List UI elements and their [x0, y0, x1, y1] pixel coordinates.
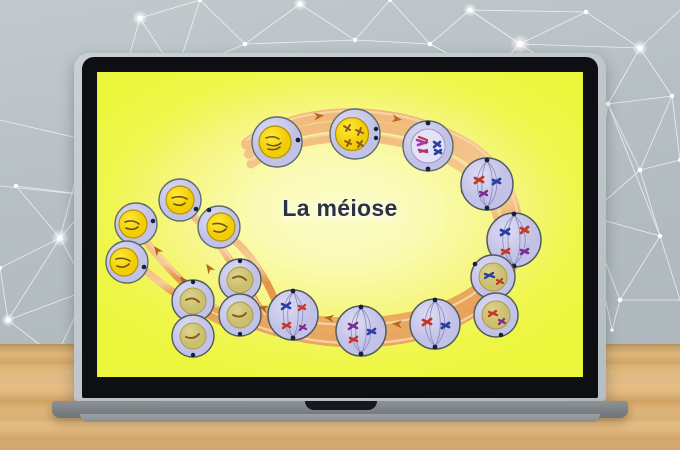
meiosis-diagram — [97, 72, 583, 377]
slide-title: La méiose — [97, 195, 583, 222]
laptop-screen[interactable]: La méiose — [97, 72, 583, 377]
cell-prophase-I-late — [403, 121, 453, 172]
laptop-base-notch — [305, 401, 377, 410]
cell-anaphase-II — [268, 289, 318, 341]
screenshot-stage: La méiose — [0, 0, 680, 450]
laptop-base-lip — [80, 414, 600, 422]
cell-prophase-II — [410, 298, 460, 350]
cell-interphase — [252, 117, 302, 167]
cell-prophase-I-early — [330, 109, 380, 159]
gamete-2 — [106, 241, 148, 283]
cell-metaphase-II — [336, 305, 386, 357]
